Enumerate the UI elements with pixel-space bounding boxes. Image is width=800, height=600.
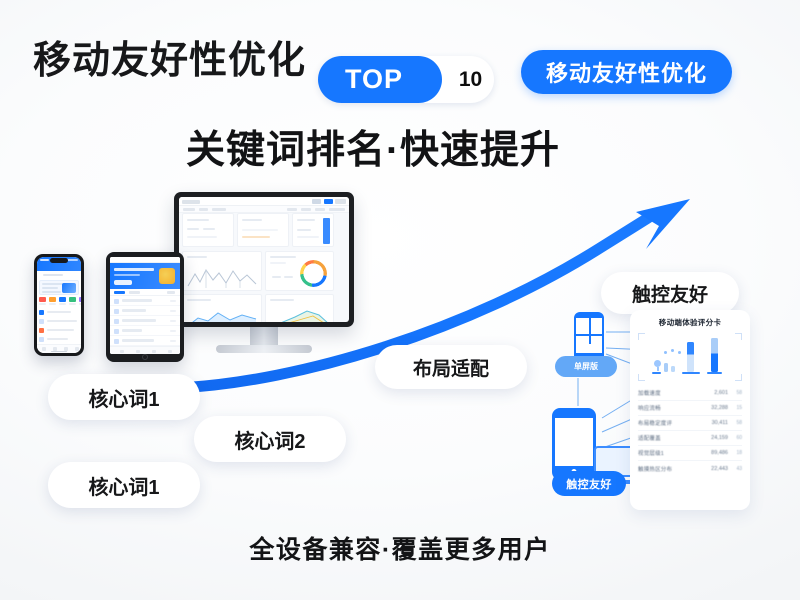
top-label: TOP bbox=[345, 64, 415, 95]
table-row: 适配覆盖 24,159 60 bbox=[638, 431, 742, 446]
metric-score: 43 bbox=[728, 466, 742, 472]
monitor-screen bbox=[179, 197, 349, 322]
table-row: 响应流畅 32,288 15 bbox=[638, 401, 742, 416]
dashboard-area-card bbox=[265, 294, 334, 322]
metric-name: 适配覆盖 bbox=[638, 434, 706, 442]
metric-score: 60 bbox=[728, 435, 742, 441]
phone-hero-card bbox=[39, 280, 79, 295]
dashboard-logo bbox=[182, 200, 200, 204]
keyword-pill-1[interactable]: 核心词1 bbox=[48, 374, 200, 420]
phone-tabbar bbox=[37, 344, 81, 353]
topbar-chip-2 bbox=[324, 199, 333, 204]
metric-score: 18 bbox=[728, 450, 742, 456]
tablet-home-button bbox=[142, 354, 148, 360]
topbar-chip-3 bbox=[335, 199, 346, 204]
monitor-stand-foot bbox=[216, 345, 312, 353]
topbar-chip-1 bbox=[312, 199, 321, 204]
metric-name: 触摸热区分布 bbox=[638, 465, 706, 473]
metric-value: 32,288 bbox=[706, 405, 728, 411]
page-subtitle: 关键词排名·快速提升 bbox=[186, 119, 560, 175]
metric-score: 15 bbox=[728, 405, 742, 411]
score-card: 移动端体验评分卡 加载速度 2,60 bbox=[630, 310, 750, 510]
tablet-hero-banner bbox=[110, 263, 180, 289]
dashboard-card bbox=[237, 213, 289, 247]
hero-thumbnail bbox=[62, 283, 76, 293]
desktop-monitor-mockup bbox=[174, 192, 354, 327]
list-item bbox=[39, 309, 79, 317]
rank-number: 10 bbox=[451, 60, 490, 99]
list-item bbox=[110, 306, 180, 316]
area-chart-sparkline-2 bbox=[269, 306, 332, 322]
score-card-title: 移动端体验评分卡 bbox=[638, 317, 742, 328]
phone-mockup bbox=[34, 254, 84, 356]
table-row: 布局稳定度评 30,411 58 bbox=[638, 416, 742, 431]
dashboard-topbar bbox=[179, 197, 349, 206]
dashboard-card bbox=[182, 213, 234, 247]
phone-quick-icons bbox=[39, 297, 79, 306]
line-chart-sparkline bbox=[186, 264, 260, 290]
phone-body bbox=[34, 254, 84, 356]
chart-bulb-icon bbox=[654, 360, 661, 367]
chart-dot bbox=[664, 351, 667, 354]
diagram-large-phone-icon bbox=[552, 408, 596, 480]
list-item bbox=[110, 296, 180, 306]
top-label-pill: TOP bbox=[318, 56, 442, 103]
metric-score: 58 bbox=[728, 420, 742, 426]
score-table: 加载速度 2,601 58 响应流畅 32,288 15 布局稳定度评 30,4… bbox=[638, 386, 742, 476]
dashboard-card bbox=[292, 213, 334, 247]
tablet-mockup bbox=[106, 252, 184, 362]
tablet-bottom-bar bbox=[110, 346, 180, 354]
area-chart-sparkline bbox=[186, 306, 260, 322]
list-item bbox=[39, 318, 79, 326]
metric-score: 58 bbox=[728, 390, 742, 396]
chart-dot bbox=[671, 349, 674, 352]
mobile-experience-panel: 单屏版 触控友好 移动端体验评分卡 bbox=[552, 308, 782, 513]
dashboard-body bbox=[179, 213, 349, 322]
keyword-pill-2[interactable]: 核心词2 bbox=[194, 416, 346, 462]
table-row: 触摸热区分布 22,443 43 bbox=[638, 461, 742, 476]
metric-value: 2,601 bbox=[706, 390, 728, 396]
chart-bar bbox=[671, 366, 675, 372]
table-row: 加载速度 2,601 58 bbox=[638, 386, 742, 401]
tablet-tabbar bbox=[110, 289, 180, 296]
header-blue-tag: 移动友好性优化 bbox=[521, 50, 732, 94]
list-item bbox=[110, 326, 180, 336]
search-icon bbox=[43, 274, 63, 276]
table-row: 视觉层级1 89,486 18 bbox=[638, 446, 742, 461]
phone-notch bbox=[50, 258, 68, 263]
diagram-pill-touch-friendly[interactable]: 触控友好 bbox=[552, 471, 626, 496]
chart-bar bbox=[687, 342, 694, 372]
footer-tagline: 全设备兼容·覆盖更多用户 bbox=[0, 530, 800, 566]
metric-value: 89,486 bbox=[706, 450, 728, 456]
monitor-stand-neck bbox=[250, 325, 278, 347]
dashboard-area-card bbox=[182, 294, 262, 322]
chart-bar bbox=[711, 338, 718, 372]
dashboard-chart-card bbox=[182, 251, 262, 291]
search-input[interactable] bbox=[40, 271, 78, 278]
metric-value: 24,159 bbox=[706, 435, 728, 441]
metric-name: 视觉层级1 bbox=[638, 449, 706, 457]
dashboard-navbar bbox=[179, 206, 349, 213]
poster-canvas: 移动友好性优化 TOP 10 移动友好性优化 关键词排名·快速提升 bbox=[0, 0, 800, 600]
phone-screen bbox=[37, 257, 81, 353]
diagram-pill-split-screen[interactable]: 单屏版 bbox=[555, 356, 617, 377]
list-item bbox=[39, 336, 79, 344]
metric-name: 加载速度 bbox=[638, 389, 706, 397]
metric-name: 布局稳定度评 bbox=[638, 419, 706, 427]
chart-dot bbox=[678, 351, 681, 354]
page-title: 移动友好性优化 bbox=[33, 29, 306, 84]
list-item bbox=[110, 316, 180, 326]
home-indicator bbox=[51, 351, 67, 353]
top-rank-badge: TOP 10 bbox=[318, 56, 494, 103]
score-card-chart bbox=[638, 333, 742, 381]
chart-bar bbox=[664, 363, 668, 372]
keyword-pill-3[interactable]: 核心词1 bbox=[48, 462, 200, 508]
list-item bbox=[110, 336, 180, 346]
dashboard-donut-card bbox=[265, 251, 334, 291]
metric-value: 22,443 bbox=[706, 466, 728, 472]
list-item bbox=[39, 327, 79, 335]
donut-chart bbox=[300, 260, 327, 287]
tablet-screen bbox=[110, 257, 180, 354]
metric-value: 30,411 bbox=[706, 420, 728, 426]
banner-illustration bbox=[159, 268, 175, 284]
tablet-body bbox=[106, 252, 184, 362]
feature-pill-layout[interactable]: 布局适配 bbox=[375, 345, 527, 389]
metric-name: 响应流畅 bbox=[638, 404, 706, 412]
